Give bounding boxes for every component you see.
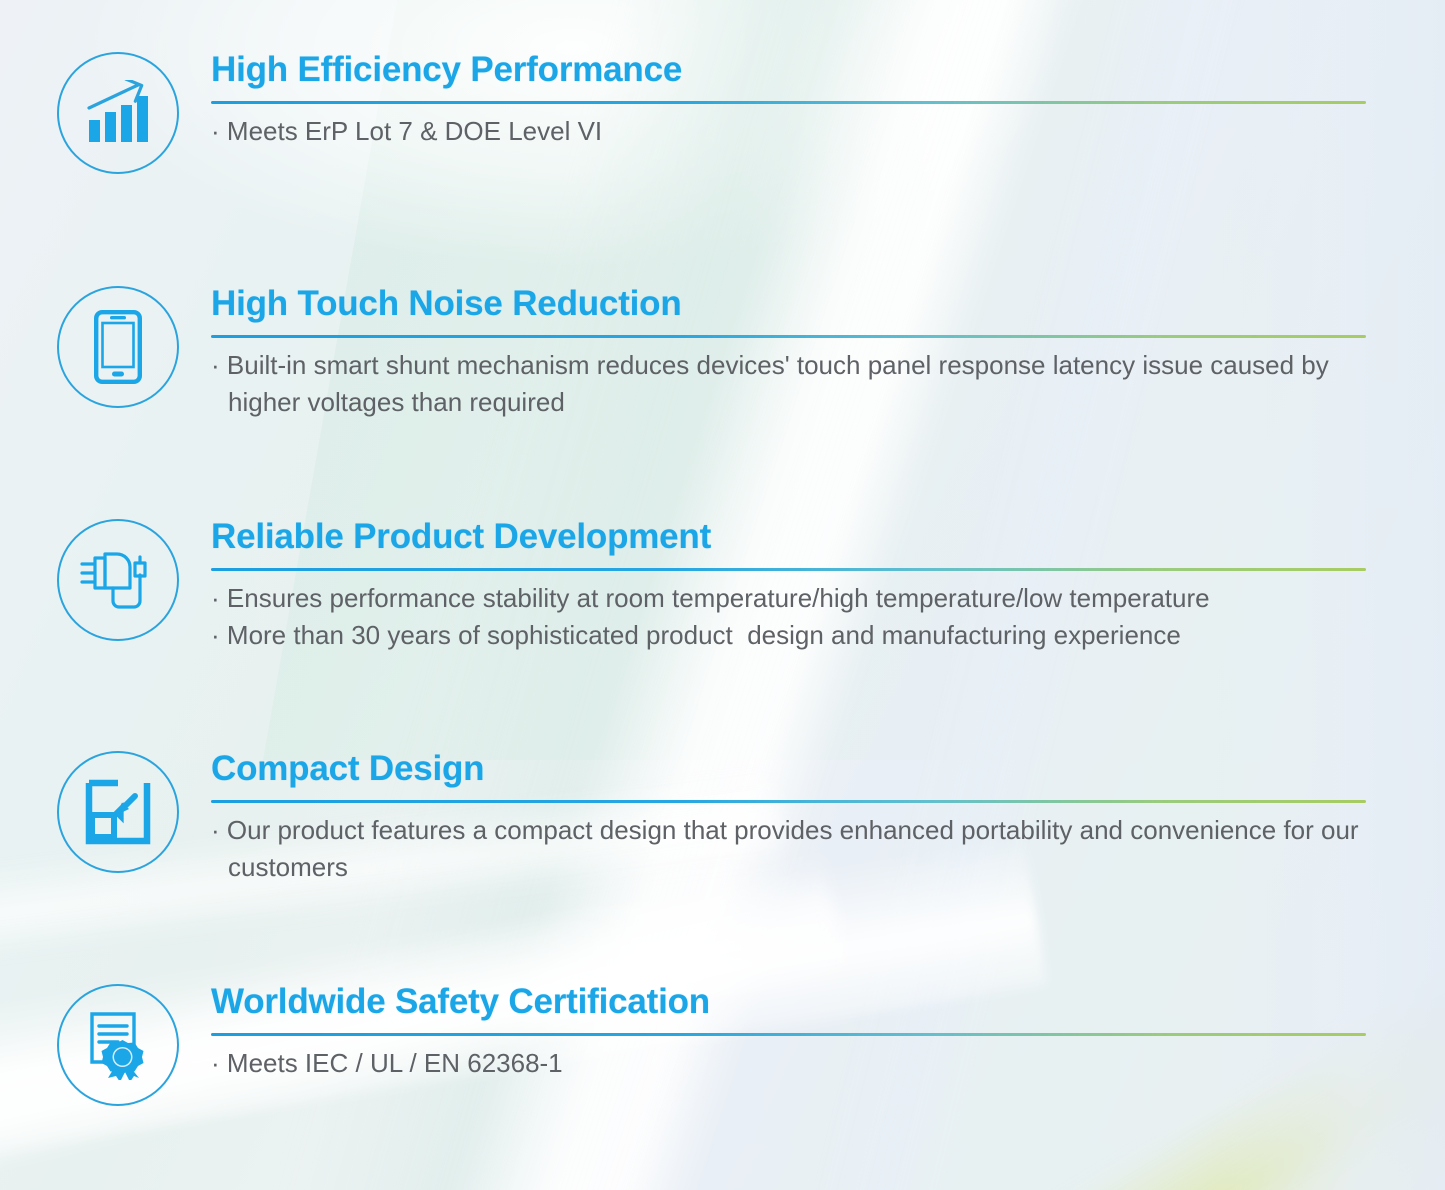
feature-bullets: · Meets ErP Lot 7 & DOE Level VI <box>211 113 1366 150</box>
bar-chart-growth-icon <box>57 52 179 174</box>
feature-bullet-line: · Built-in smart shunt mechanism reduces… <box>211 347 1366 421</box>
smartphone-icon <box>57 286 179 408</box>
feature-bullets: · Built-in smart shunt mechanism reduces… <box>211 347 1366 421</box>
feature-icon-wrap <box>57 751 179 873</box>
feature-bullet-text: Ensures performance stability at room te… <box>227 583 1210 613</box>
feature-content: High Efficiency Performance · Meets ErP … <box>211 52 1366 150</box>
shrink-resize-icon <box>57 751 179 873</box>
feature-title: Reliable Product Development <box>211 519 1366 556</box>
feature-title: Worldwide Safety Certification <box>211 984 1366 1021</box>
feature-bullet-text: Meets IEC / UL / EN 62368-1 <box>227 1048 563 1078</box>
feature-icon-wrap <box>57 286 179 408</box>
feature-icon-wrap <box>57 519 179 641</box>
feature-divider <box>211 800 1366 803</box>
feature-bullet-line: · Meets IEC / UL / EN 62368-1 <box>211 1045 1366 1082</box>
feature-icon-wrap <box>57 984 179 1106</box>
feature-bullet-line: · Meets ErP Lot 7 & DOE Level VI <box>211 113 1366 150</box>
feature-divider <box>211 1033 1366 1036</box>
feature-bullet-text: Meets ErP Lot 7 & DOE Level VI <box>227 116 602 146</box>
feature-bullet-text: More than 30 years of sophisticated prod… <box>227 620 1181 650</box>
feature-content: Reliable Product Development · Ensures p… <box>211 519 1366 654</box>
feature-divider <box>211 335 1366 338</box>
feature-divider <box>211 101 1366 104</box>
feature-content: Worldwide Safety Certification · Meets I… <box>211 984 1366 1082</box>
power-adapter-icon <box>57 519 179 641</box>
feature-title: High Efficiency Performance <box>211 52 1366 89</box>
bullet-glyph: · <box>211 350 220 380</box>
feature-highlights-page: High Efficiency Performance · Meets ErP … <box>0 0 1445 1190</box>
feature-content: Compact Design · Our product features a … <box>211 751 1366 886</box>
feature-list: High Efficiency Performance · Meets ErP … <box>0 0 1445 1190</box>
feature-bullets: · Ensures performance stability at room … <box>211 580 1366 654</box>
bullet-glyph: · <box>211 1048 220 1078</box>
bullet-glyph: · <box>211 116 220 146</box>
feature-bullets: · Meets IEC / UL / EN 62368-1 <box>211 1045 1366 1082</box>
feature-divider <box>211 568 1366 571</box>
feature-bullet-text: Our product features a compact design th… <box>227 815 1366 882</box>
certificate-award-icon <box>57 984 179 1106</box>
bullet-glyph: · <box>211 620 220 650</box>
feature-bullet-line: · More than 30 years of sophisticated pr… <box>211 617 1366 654</box>
feature-bullets: · Our product features a compact design … <box>211 812 1366 886</box>
feature-title: Compact Design <box>211 751 1366 788</box>
feature-bullet-line: · Ensures performance stability at room … <box>211 580 1366 617</box>
bullet-glyph: · <box>211 583 220 613</box>
feature-content: High Touch Noise Reduction · Built-in sm… <box>211 286 1366 421</box>
feature-bullet-text: Built-in smart shunt mechanism reduces d… <box>227 350 1336 417</box>
feature-bullet-line: · Our product features a compact design … <box>211 812 1366 886</box>
bullet-glyph: · <box>211 815 220 845</box>
feature-title: High Touch Noise Reduction <box>211 286 1366 323</box>
feature-icon-wrap <box>57 52 179 174</box>
